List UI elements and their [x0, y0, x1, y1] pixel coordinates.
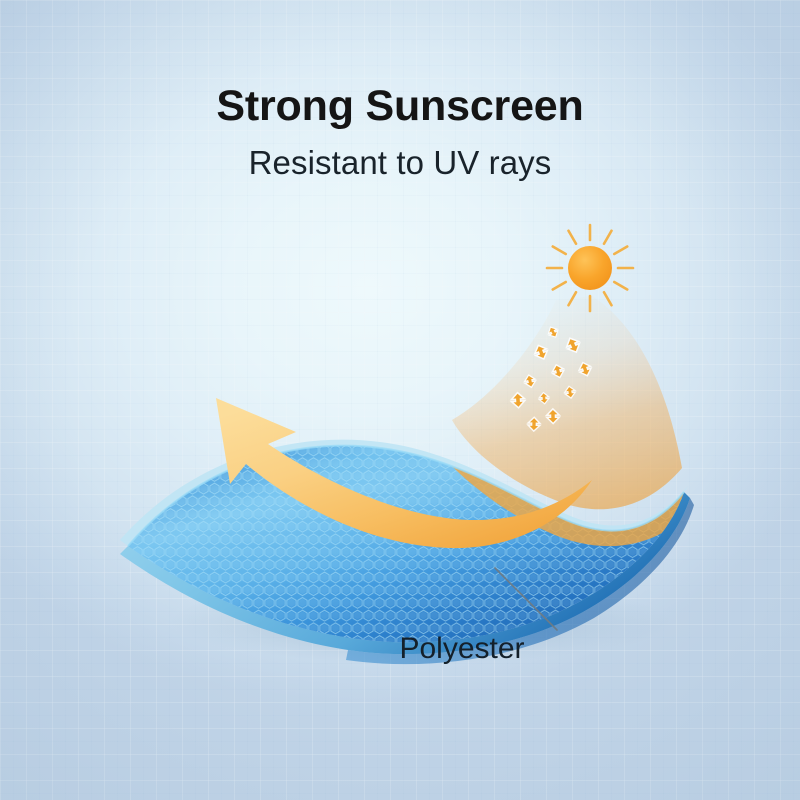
headline-text: Strong Sunscreen	[216, 82, 583, 130]
sun-icon	[547, 225, 633, 311]
sun-ray	[553, 282, 566, 290]
page-title: Strong Sunscreen	[0, 84, 800, 129]
sun-ray	[604, 292, 612, 305]
sun-ray	[553, 247, 566, 255]
callout-polyester: Polyester	[0, 632, 800, 666]
subhead-text: Resistant to UV rays	[249, 144, 552, 181]
callout-label-text: Polyester	[399, 632, 524, 665]
sun-ray	[604, 231, 612, 244]
sun-ray	[569, 231, 577, 244]
page-subtitle: Resistant to UV rays	[0, 145, 800, 181]
sun-disc	[568, 246, 612, 290]
sunscreen-fabric-infographic: Strong Sunscreen Resistant to UV rays Po…	[0, 0, 800, 800]
sun-ray	[614, 282, 627, 290]
sun-ray	[614, 247, 627, 255]
